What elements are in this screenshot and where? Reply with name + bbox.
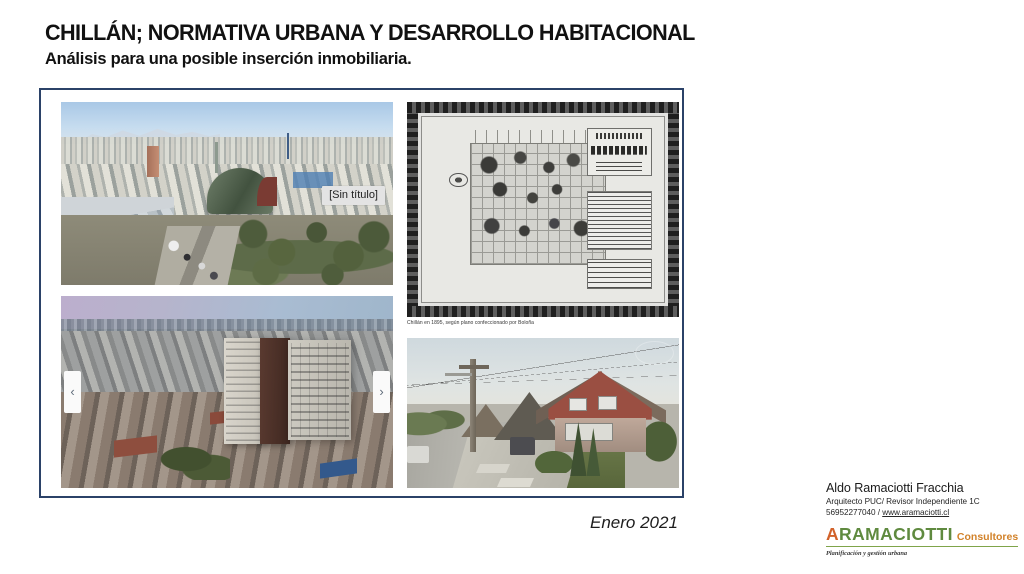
historic-map-chillan-1895[interactable]: [407, 102, 679, 317]
carousel-next-arrow-icon[interactable]: ›: [373, 371, 390, 413]
slide-date: Enero 2021: [590, 513, 678, 533]
pole-crossarm: [459, 365, 489, 369]
website-link[interactable]: www.aramaciotti.cl: [882, 508, 949, 517]
map-city-blocks: [470, 143, 606, 265]
driveway-slab: [476, 464, 510, 473]
grey-tower-block: [288, 340, 351, 440]
cartouche-footer-lines: [596, 160, 642, 170]
streetview-compass-icon: [635, 341, 673, 365]
driveway-slab: [497, 478, 534, 487]
cartouche-city-name: [591, 143, 647, 157]
signature-block: Aldo Ramaciotti Fracchia Arquitecto PUC/…: [826, 481, 1012, 557]
aerial-view-chillan-downtown[interactable]: [Sin título]: [61, 102, 393, 285]
author-credentials: Arquitecto PUC/ Revisor Independiente 1C: [826, 497, 1012, 506]
street-view-residential-houses[interactable]: [407, 338, 679, 488]
phone-number: 56952277040 /: [826, 508, 882, 517]
map-sheet: [421, 116, 665, 303]
red-dome: [257, 177, 277, 206]
slide-subtitle: Análisis para una posible inserción inmo…: [45, 50, 411, 69]
residential-tower-aerial[interactable]: ‹ ›: [61, 296, 393, 488]
image-gallery: [Sin título]: [49, 98, 674, 488]
presentation-slide: CHILLÁN; NORMATIVA URBANA Y DESARROLLO H…: [0, 0, 1024, 574]
window: [569, 398, 587, 411]
parked-cars: [167, 237, 233, 281]
map-legend-table: [587, 191, 652, 250]
plaza-trees: [234, 212, 393, 285]
carousel-prev-arrow-icon[interactable]: ‹: [64, 371, 81, 413]
hedge: [646, 419, 679, 464]
street-lamp: [445, 373, 472, 376]
content-frame: [Sin título]: [39, 88, 684, 498]
cartouche-subtitle-line: [596, 133, 642, 139]
window: [598, 396, 617, 410]
image-title-overlay: [Sin título]: [322, 186, 385, 205]
tree-canopy: [157, 442, 230, 480]
map-legend-notes: [587, 259, 652, 289]
slide-title: CHILLÁN; NORMATIVA URBANA Y DESARROLLO H…: [45, 20, 695, 46]
picture-window: [565, 423, 613, 441]
foreground-house: [548, 371, 651, 452]
logo-wordmark: RAMACIOTTI: [839, 524, 953, 544]
map-roundabout: [449, 173, 468, 188]
logo-tagline: Planificación y gestión urbana: [826, 550, 1012, 557]
company-logo: ARAMACIOTTIConsultores: [826, 524, 1018, 547]
garden-shrub: [532, 449, 576, 473]
brick-tower: [147, 146, 159, 177]
cathedral-spire: [215, 142, 218, 173]
author-name: Aldo Ramaciotti Fracchia: [826, 481, 1012, 495]
map-caption: Chillán en 1895, según plano confecciona…: [407, 320, 534, 325]
brown-tower-block: [260, 338, 290, 444]
logo-suffix: Consultores: [957, 531, 1018, 543]
logo-initial: A: [826, 524, 839, 544]
author-contact: 56952277040 / www.aramaciotti.cl: [826, 508, 1012, 517]
antenna-mast: [287, 133, 289, 159]
white-tower-block: [224, 338, 264, 444]
parked-car: [407, 446, 429, 463]
background-trees: [407, 404, 467, 437]
map-title-cartouche: [587, 128, 652, 176]
